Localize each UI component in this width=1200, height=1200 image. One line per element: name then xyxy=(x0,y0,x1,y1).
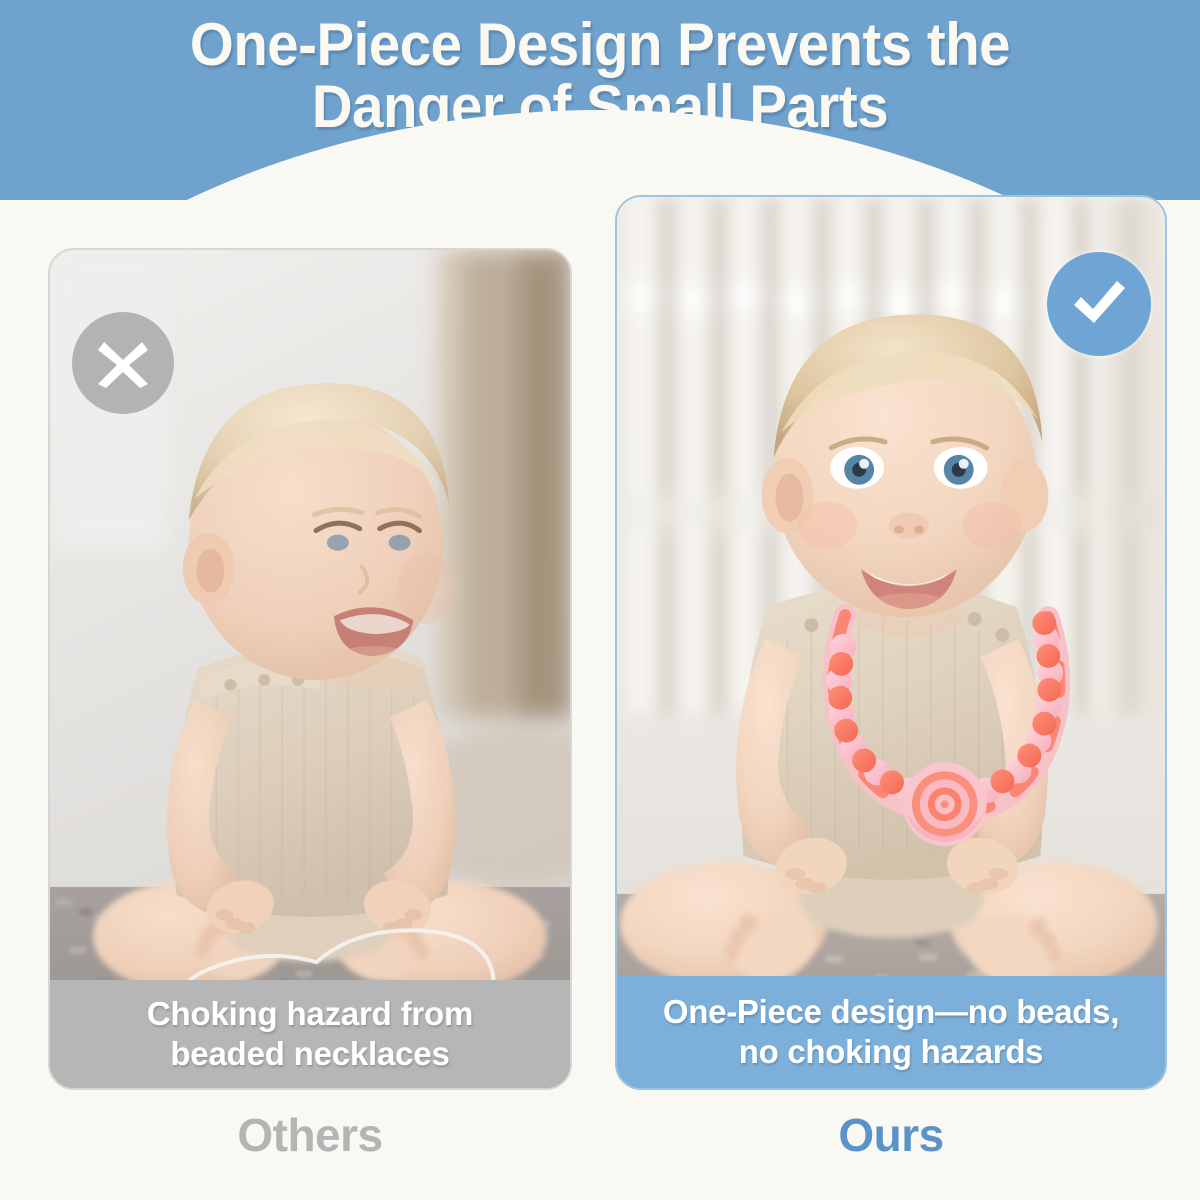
x-mark-icon xyxy=(72,312,174,414)
check-mark-icon xyxy=(1047,252,1151,356)
ours-caption: One-Piece design—no beads, no choking ha… xyxy=(617,976,1165,1088)
infographic-page: One-Piece Design Prevents the Danger of … xyxy=(0,0,1200,1200)
others-caption: Choking hazard from beaded necklaces xyxy=(50,980,570,1088)
comparison-section: Choking hazard from beaded necklaces xyxy=(0,0,1200,1200)
others-label: Others xyxy=(48,1108,572,1162)
ours-label: Ours xyxy=(615,1108,1167,1162)
